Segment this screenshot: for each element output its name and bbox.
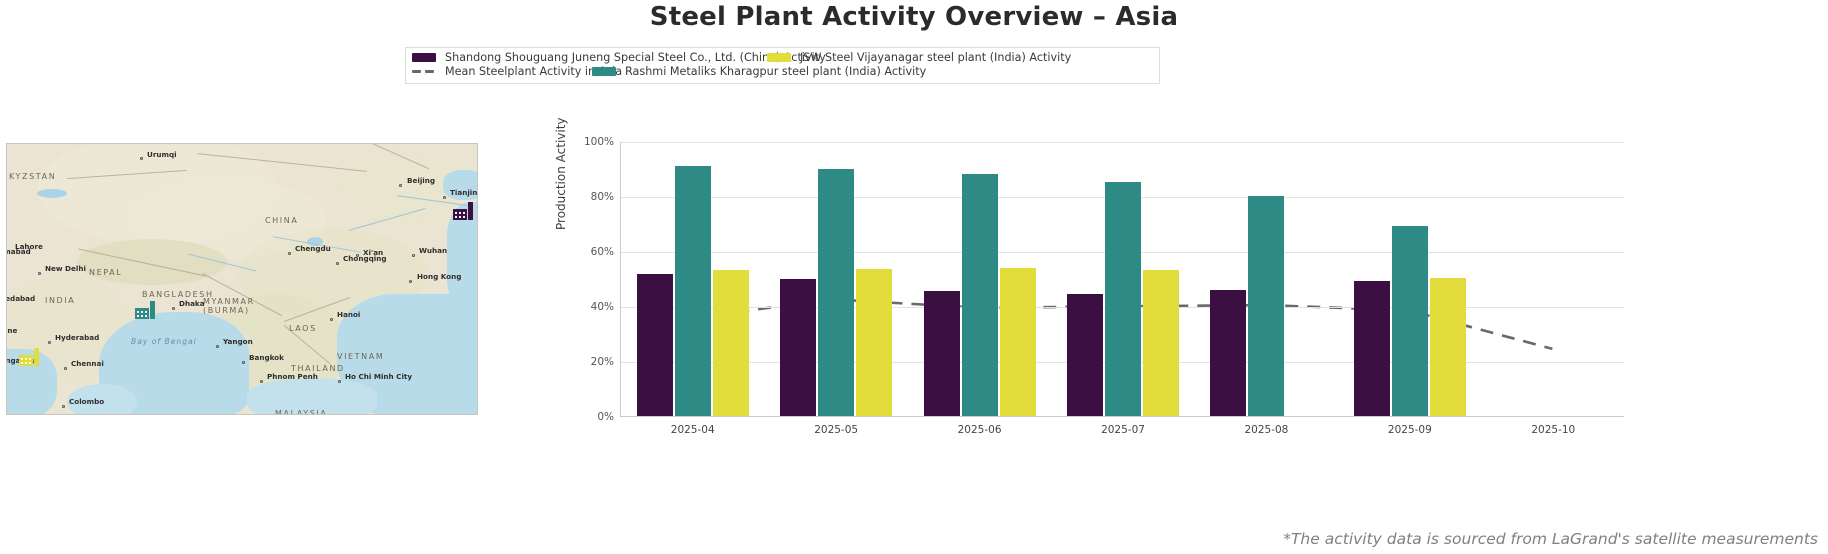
factory-window	[29, 358, 31, 360]
factory-window	[141, 315, 143, 317]
bar[interactable]	[637, 274, 673, 416]
x-axis-tick: 2025-10	[1531, 424, 1575, 436]
map-city-label: Chongqing	[343, 254, 386, 263]
x-axis-tick: 2025-04	[671, 424, 715, 436]
map-water-label: Bay of Bengal	[131, 337, 197, 346]
map-city-dot	[336, 262, 339, 265]
chart-legend: Shandong Shouguang Juneng Special Steel …	[405, 47, 1160, 84]
y-axis-tick: 20%	[591, 356, 614, 368]
factory-window	[137, 311, 139, 313]
factory-body	[135, 308, 149, 319]
bar[interactable]	[1000, 268, 1036, 416]
factory-window	[137, 315, 139, 317]
legend-label-rashmi: Rashmi Metaliks Kharagpur steel plant (I…	[625, 65, 926, 78]
map-country-label: LAOS	[289, 324, 317, 333]
map-city-label: New Delhi	[45, 264, 86, 273]
map-city-dot	[409, 280, 412, 283]
map-country-label: INDIA	[45, 296, 75, 305]
map-city-label: Colombo	[69, 397, 104, 406]
map-city-dot	[443, 196, 446, 199]
y-axis-tick: 60%	[591, 246, 614, 258]
map-city-label: Chennai	[71, 359, 104, 368]
map-city-dot	[62, 405, 65, 408]
legend-swatch-jsw	[767, 53, 791, 62]
map-city-dot	[399, 184, 402, 187]
factory-window	[21, 358, 23, 360]
factory-window	[463, 212, 465, 214]
bar[interactable]	[1067, 294, 1103, 416]
legend-item-jsw[interactable]: JSW Steel Vijayanagar steel plant (India…	[767, 51, 1012, 64]
bar[interactable]	[818, 169, 854, 417]
map-city-dot	[288, 252, 291, 255]
map-city-dot	[140, 157, 143, 160]
y-axis-tick: 40%	[591, 301, 614, 313]
map-city-dot	[48, 341, 51, 344]
y-axis-tick: 100%	[584, 136, 614, 148]
map-city-label: Hanoi	[337, 310, 360, 319]
factory-window	[29, 362, 31, 364]
legend-swatch-shandong	[412, 53, 436, 62]
x-axis-tick: 2025-08	[1244, 424, 1288, 436]
bar-group: 2025-04	[637, 142, 749, 416]
map-country-label: VIETNAM	[337, 352, 384, 361]
bar[interactable]	[1392, 226, 1428, 416]
bar[interactable]	[713, 270, 749, 416]
map-city-label: Islamabad	[6, 247, 31, 256]
factory-window	[463, 216, 465, 218]
map-country-label: (BURMA)	[203, 306, 250, 315]
map-country-label: KYZSTAN	[9, 172, 56, 181]
map-country-label: MYANMAR	[203, 297, 255, 306]
map-city-label: Beijing	[407, 176, 435, 185]
factory-window	[145, 315, 147, 317]
map-city-dot	[38, 272, 41, 275]
factory-window	[455, 212, 457, 214]
bar-group: 2025-06	[924, 142, 1036, 416]
page-title: Steel Plant Activity Overview – Asia	[0, 2, 1828, 32]
map-city-dot	[330, 318, 333, 321]
map-city-label: Ahmedabad	[6, 294, 35, 303]
bar[interactable]	[924, 291, 960, 416]
factory-chimney	[34, 348, 39, 366]
map-country-label: MALAYSIA	[275, 409, 327, 415]
factory-window	[141, 311, 143, 313]
dashed-line-icon	[412, 67, 436, 76]
plot-area[interactable]: 0%20%40%60%80%100%2025-042025-052025-062…	[620, 142, 1624, 417]
map-city-label: Bangkok	[249, 353, 284, 362]
factory-chimney	[468, 202, 473, 220]
map-city-dot	[64, 367, 67, 370]
map-city-dot	[216, 345, 219, 348]
bar[interactable]	[1248, 196, 1284, 416]
map-city-label: Hong Kong	[417, 272, 461, 281]
factory-body	[453, 209, 467, 220]
legend-label-jsw: JSW Steel Vijayanagar steel plant (India…	[800, 51, 1071, 64]
bar[interactable]	[1430, 278, 1466, 416]
map-city-label: Tianjin	[450, 188, 477, 197]
factory-chimney	[150, 301, 155, 319]
bar-group: 2025-05	[780, 142, 892, 416]
map-city-label: Dhaka	[179, 299, 205, 308]
map-city-label: Chengdu	[295, 244, 331, 253]
bar[interactable]	[1354, 281, 1390, 416]
legend-swatch-rashmi	[592, 67, 616, 76]
factory-body	[19, 355, 33, 366]
legend-item-mean[interactable]: Mean Steelplant Activity in Asia	[412, 65, 592, 78]
map-city-label: Pune	[6, 326, 17, 335]
map-terrain-shade	[77, 239, 227, 285]
asia-terrain-map[interactable]: KYZSTAN CHINA NEPAL INDIA BANGLADESH MYA…	[6, 143, 478, 415]
legend-item-shandong[interactable]: Shandong Shouguang Juneng Special Steel …	[412, 51, 767, 64]
data-source-footnote: *The activity data is sourced from LaGra…	[1283, 530, 1818, 548]
bar[interactable]	[856, 269, 892, 416]
bar-group: 2025-07	[1067, 142, 1179, 416]
map-city-dot	[242, 361, 245, 364]
bar[interactable]	[675, 166, 711, 416]
legend-item-rashmi[interactable]: Rashmi Metaliks Kharagpur steel plant (I…	[592, 65, 947, 78]
factory-window	[25, 362, 27, 364]
map-city-label: Yangon	[223, 337, 253, 346]
factory-window	[455, 216, 457, 218]
activity-bar-chart: Production Activity 0%20%40%60%80%100%20…	[560, 130, 1828, 460]
bar-group: 2025-08	[1210, 142, 1322, 416]
map-city-label: Ho Chi Minh City	[345, 372, 412, 381]
x-axis-tick: 2025-07	[1101, 424, 1145, 436]
factory-window	[145, 311, 147, 313]
bar[interactable]	[1143, 270, 1179, 416]
factory-window	[25, 358, 27, 360]
map-country-label: NEPAL	[89, 268, 122, 277]
bar-group: 2025-10	[1497, 142, 1609, 416]
map-city-label: Wuhan	[419, 246, 447, 255]
x-axis-tick: 2025-05	[814, 424, 858, 436]
map-city-dot	[412, 254, 415, 257]
map-city-dot	[338, 380, 341, 383]
y-axis-tick: 0%	[597, 411, 614, 423]
factory-window	[459, 216, 461, 218]
y-axis-tick: 80%	[591, 191, 614, 203]
map-city-label: Hyderabad	[55, 333, 99, 342]
bar[interactable]	[1105, 182, 1141, 416]
map-city-dot	[260, 380, 263, 383]
map-city-label: Phnom Penh	[267, 372, 318, 381]
map-city-label: Urumqi	[147, 150, 177, 159]
bar[interactable]	[780, 279, 816, 417]
y-axis-title: Production Activity	[554, 117, 568, 230]
map-lake	[37, 189, 67, 198]
map-country-label: CHINA	[265, 216, 298, 225]
x-axis-tick: 2025-06	[958, 424, 1002, 436]
factory-window	[459, 212, 461, 214]
bar-group: 2025-09	[1354, 142, 1466, 416]
bar[interactable]	[1210, 290, 1246, 417]
page-root: Steel Plant Activity Overview – Asia Sha…	[0, 0, 1828, 554]
x-axis-tick: 2025-09	[1388, 424, 1432, 436]
map-city-dot	[172, 307, 175, 310]
factory-window	[21, 362, 23, 364]
bar[interactable]	[962, 174, 998, 416]
